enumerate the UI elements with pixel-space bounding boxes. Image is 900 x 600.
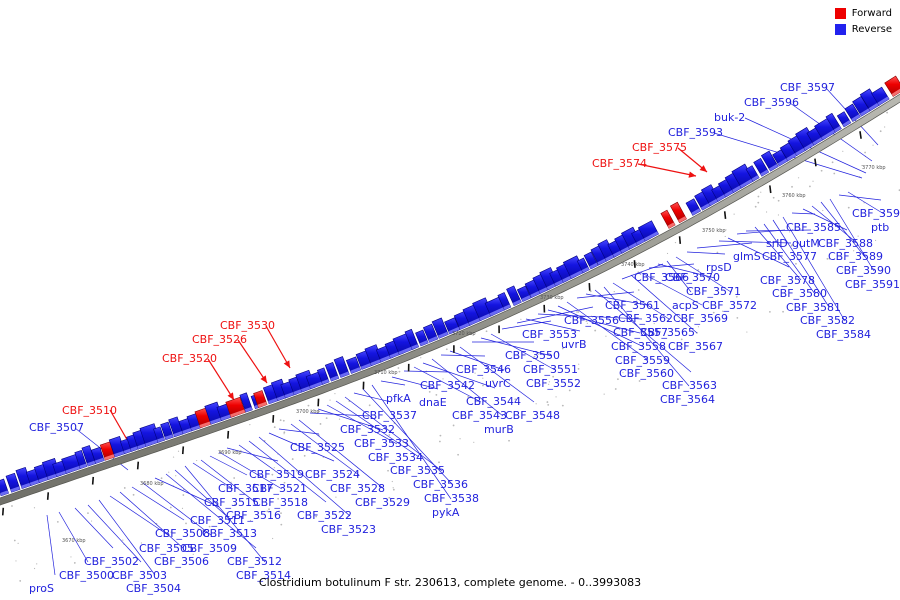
gene-label[interactable]: CBF_3588 bbox=[818, 238, 873, 249]
leader-arrowhead bbox=[688, 171, 696, 177]
speckle bbox=[175, 475, 176, 476]
gene-label[interactable]: uvrB bbox=[561, 339, 587, 350]
gene-label[interactable]: CBF_3560 bbox=[619, 368, 674, 379]
speckle bbox=[884, 126, 885, 127]
speckle bbox=[736, 317, 738, 319]
speckle bbox=[766, 211, 767, 212]
gene-label[interactable]: CBF_3558 bbox=[611, 341, 666, 352]
gene-label[interactable]: CBF_3574 bbox=[592, 158, 647, 169]
gene-features bbox=[0, 76, 900, 500]
gene-label[interactable]: CBF_3575 bbox=[632, 142, 687, 153]
legend-item-forward: Forward bbox=[835, 6, 892, 20]
gene-label[interactable]: CBF_3564 bbox=[660, 394, 715, 405]
speckle bbox=[486, 330, 488, 332]
speckle bbox=[639, 380, 641, 382]
speckle bbox=[233, 477, 235, 479]
gene-label[interactable]: CBF_3507 bbox=[29, 422, 84, 433]
gene-label[interactable]: CBF_3526 bbox=[192, 334, 247, 345]
gene-label[interactable]: CBF_3572 bbox=[702, 300, 757, 311]
speckle bbox=[36, 563, 37, 564]
gene-label[interactable]: CBF_3537 bbox=[362, 410, 417, 421]
speckle bbox=[18, 543, 19, 544]
genome-map-canvas: 3670 kbp3680 kbp3690 kbp3700 kbp3710 kbp… bbox=[0, 0, 900, 600]
axis-tick-label: 3690 kbp bbox=[218, 450, 242, 456]
speckle bbox=[292, 458, 294, 460]
speckle bbox=[392, 481, 393, 482]
gene-label[interactable]: srlD bbox=[766, 238, 788, 249]
gene-label[interactable]: CBF_3582 bbox=[800, 315, 855, 326]
axis-tick-label: 3710 kbp bbox=[374, 370, 398, 376]
speckle bbox=[812, 181, 813, 182]
speckle bbox=[334, 393, 335, 394]
speckle bbox=[755, 206, 757, 208]
speckle bbox=[280, 524, 282, 526]
gene-label[interactable]: CBF_3559 bbox=[615, 355, 670, 366]
tick-hashmark bbox=[680, 236, 681, 244]
gene-label[interactable]: CBF_3590 bbox=[836, 265, 891, 276]
speckle bbox=[182, 508, 183, 509]
gene-label[interactable]: CBF_3521 bbox=[252, 483, 307, 494]
gene-label[interactable]: CBF_3563 bbox=[662, 380, 717, 391]
gene-label[interactable]: CBF_3515 bbox=[204, 497, 259, 508]
speckle bbox=[473, 442, 474, 443]
gene-label[interactable]: CBF_3522 bbox=[297, 510, 352, 521]
speckle bbox=[760, 192, 761, 193]
tick-hashmark bbox=[48, 492, 49, 500]
leader-line bbox=[88, 505, 141, 562]
speckle bbox=[698, 326, 699, 327]
speckle bbox=[280, 419, 282, 421]
gene-label[interactable]: CBF_3546 bbox=[456, 364, 511, 375]
speckle bbox=[848, 207, 850, 209]
speckle bbox=[326, 417, 328, 419]
speckle bbox=[605, 336, 606, 337]
gene-label[interactable]: CBF_3533 bbox=[354, 438, 409, 449]
speckle bbox=[438, 461, 440, 463]
speckle bbox=[196, 460, 197, 461]
gene-label[interactable]: CBF_3561 bbox=[605, 300, 660, 311]
gene-label[interactable]: CBF_3518 bbox=[253, 497, 308, 508]
leader-line bbox=[687, 252, 725, 254]
speckle bbox=[70, 556, 71, 557]
speckle bbox=[886, 112, 888, 114]
tick-hashmark bbox=[183, 446, 184, 454]
axis-tick-label: 3680 kbp bbox=[140, 481, 164, 487]
axis-tick-label: 3720 kbp bbox=[452, 331, 476, 337]
speckle bbox=[821, 170, 823, 172]
axis-tick-label: 3670 kbp bbox=[62, 538, 86, 544]
speckle bbox=[833, 173, 835, 175]
speckle bbox=[872, 145, 873, 146]
gene-label[interactable]: CBF_3551 bbox=[523, 364, 578, 375]
gene-label[interactable]: CBF_3532 bbox=[340, 424, 395, 435]
speckle bbox=[185, 522, 187, 524]
gene-label[interactable]: CBF_3529 bbox=[355, 497, 410, 508]
gene-label[interactable]: CBF_3581 bbox=[786, 302, 841, 313]
speckle bbox=[725, 236, 726, 237]
gene-label[interactable]: CBF_3519 bbox=[249, 469, 304, 480]
leader-line bbox=[266, 326, 290, 368]
speckle bbox=[283, 420, 285, 422]
gene-label[interactable]: CBF_3525 bbox=[290, 442, 345, 453]
gene-label[interactable]: CBF_3509 bbox=[182, 543, 237, 554]
gene-label[interactable]: CBF_3516 bbox=[226, 510, 281, 521]
gene-label[interactable]: CBF_3567 bbox=[668, 341, 723, 352]
gene-label[interactable]: CBF_3542 bbox=[420, 380, 475, 391]
speckle bbox=[161, 477, 163, 479]
gene-label[interactable]: pykA bbox=[432, 507, 459, 518]
speckle bbox=[576, 311, 577, 312]
speckle bbox=[249, 424, 250, 425]
gene-box-reverse[interactable] bbox=[0, 479, 9, 496]
leader-line bbox=[404, 371, 449, 372]
gene-label[interactable]: pfkA bbox=[386, 393, 411, 404]
speckle bbox=[87, 512, 89, 514]
gene-label[interactable]: CBF_3596 bbox=[744, 97, 799, 108]
tick-hashmark bbox=[815, 159, 816, 167]
gene-label[interactable]: CBF_3544 bbox=[466, 396, 521, 407]
gene-label[interactable]: CBF_3536 bbox=[413, 479, 468, 490]
speckle bbox=[272, 538, 273, 539]
speckle bbox=[182, 494, 184, 496]
gene-label[interactable]: CBF_3569 bbox=[673, 313, 728, 324]
gene-label[interactable]: glmS bbox=[733, 251, 761, 262]
speckle bbox=[457, 454, 459, 456]
speckle bbox=[757, 202, 759, 204]
gene-label[interactable]: CBF_3534 bbox=[368, 452, 423, 463]
speckle bbox=[482, 385, 484, 387]
speckle bbox=[283, 433, 284, 434]
gene-label[interactable]: CBF_3593 bbox=[668, 127, 723, 138]
speckle bbox=[320, 423, 322, 425]
speckle bbox=[170, 507, 172, 509]
leader-line bbox=[238, 340, 267, 383]
speckle bbox=[604, 393, 605, 394]
gene-label[interactable]: uvrC bbox=[485, 378, 511, 389]
speckle bbox=[562, 405, 564, 407]
gene-label[interactable]: CBF_3543 bbox=[452, 410, 507, 421]
gene-label[interactable]: CBF_3592 bbox=[852, 208, 900, 219]
speckle bbox=[173, 456, 174, 457]
speckle bbox=[667, 253, 668, 254]
speckle bbox=[536, 403, 537, 404]
speckle bbox=[369, 404, 371, 406]
axis-tick-label: 3750 kbp bbox=[702, 228, 726, 234]
speckle bbox=[809, 186, 811, 188]
speckle bbox=[832, 161, 834, 163]
gene-label[interactable]: CBF_3530 bbox=[220, 320, 275, 331]
genome-caption: Clostridium botulinum F str. 230613, com… bbox=[0, 576, 900, 589]
speckle bbox=[459, 438, 460, 439]
speckle bbox=[880, 130, 882, 132]
speckle bbox=[778, 214, 779, 215]
leader-line bbox=[132, 487, 184, 520]
gene-label[interactable]: CBF_3528 bbox=[330, 483, 385, 494]
speckle bbox=[842, 151, 843, 152]
speckle bbox=[446, 348, 448, 350]
speckle bbox=[453, 425, 455, 427]
speckle bbox=[308, 405, 310, 407]
speckle bbox=[14, 540, 16, 542]
axis-tick-label: 3740 kbp bbox=[621, 262, 645, 268]
speckle bbox=[822, 210, 823, 211]
gene-label[interactable]: CBF_3584 bbox=[816, 329, 871, 340]
leader-arrowhead bbox=[260, 375, 267, 383]
reverse-color-swatch bbox=[835, 24, 846, 35]
speckle bbox=[577, 311, 579, 313]
speckle bbox=[778, 200, 780, 202]
speckle bbox=[387, 470, 389, 472]
speckle bbox=[508, 440, 510, 442]
legend-item-reverse: Reverse bbox=[835, 22, 892, 36]
speckle bbox=[122, 540, 123, 541]
tick-hashmark bbox=[138, 462, 139, 470]
axis-tick-label: 3730 kbp bbox=[540, 295, 564, 301]
speckle bbox=[864, 152, 866, 154]
gene-label[interactable]: buk-2 bbox=[714, 112, 745, 123]
speckle bbox=[795, 263, 797, 265]
gene-label[interactable]: CBF_3556 bbox=[564, 315, 619, 326]
legend-label-reverse: Reverse bbox=[852, 24, 892, 35]
gene-label[interactable]: CBF_3585 bbox=[786, 222, 841, 233]
speckle bbox=[283, 431, 285, 433]
speckle bbox=[769, 311, 771, 313]
speckle bbox=[74, 562, 76, 564]
speckle bbox=[734, 213, 735, 214]
axis-tick-label: 3760 kbp bbox=[782, 193, 806, 199]
speckle bbox=[178, 451, 179, 452]
tick-hashmark bbox=[770, 185, 771, 193]
speckle bbox=[717, 252, 719, 254]
speckle bbox=[439, 441, 441, 443]
speckle bbox=[124, 487, 126, 489]
gene-label[interactable]: CBF_3502 bbox=[84, 556, 139, 567]
gene-box-forward[interactable] bbox=[661, 210, 675, 228]
tick-hashmark bbox=[228, 431, 229, 439]
speckle bbox=[133, 494, 135, 496]
speckle bbox=[594, 330, 596, 332]
speckle bbox=[746, 331, 747, 332]
tick-hashmark bbox=[725, 211, 726, 219]
tick-hashmark bbox=[3, 508, 4, 516]
speckle bbox=[420, 357, 421, 358]
speckle bbox=[615, 388, 617, 390]
speckle bbox=[168, 472, 169, 473]
speckle bbox=[329, 399, 330, 400]
gene-label[interactable]: CBF_3571 bbox=[686, 286, 741, 297]
gene-label[interactable]: CBF_3512 bbox=[227, 556, 282, 567]
speckle bbox=[399, 371, 401, 373]
speckle bbox=[547, 404, 549, 406]
speckle bbox=[398, 367, 400, 369]
speckle bbox=[875, 240, 876, 241]
speckle bbox=[34, 568, 35, 569]
leader-line bbox=[208, 359, 234, 400]
gene-label[interactable]: CBF_3597 bbox=[780, 82, 835, 93]
speckle bbox=[520, 319, 521, 320]
speckle bbox=[11, 505, 13, 507]
gene-box-forward[interactable] bbox=[670, 202, 686, 223]
leader-line bbox=[47, 515, 55, 575]
gene-label[interactable]: CBF_3577 bbox=[762, 251, 817, 262]
speckle bbox=[614, 291, 615, 292]
gene-box-forward[interactable] bbox=[885, 76, 900, 96]
tick-hashmark bbox=[93, 477, 94, 485]
speckle bbox=[590, 290, 592, 292]
legend-label-forward: Forward bbox=[852, 8, 892, 19]
gene-label[interactable]: CBF_3523 bbox=[321, 524, 376, 535]
speckle bbox=[274, 426, 276, 428]
speckle bbox=[675, 242, 676, 243]
gene-label[interactable]: CBF_3589 bbox=[828, 251, 883, 262]
speckle bbox=[555, 396, 556, 397]
axis-tick-label: 3700 kbp bbox=[296, 409, 320, 415]
speckle bbox=[34, 507, 35, 508]
speckle bbox=[335, 497, 336, 498]
speckle bbox=[791, 186, 793, 188]
forward-color-swatch bbox=[835, 8, 846, 19]
speckle bbox=[638, 289, 640, 291]
strand-legend: Forward Reverse bbox=[835, 6, 892, 38]
gene-label[interactable]: CBF_3506 bbox=[154, 556, 209, 567]
gene-label[interactable]: ptb bbox=[871, 222, 889, 233]
speckle bbox=[304, 455, 306, 457]
speckle bbox=[578, 364, 579, 365]
speckle bbox=[440, 435, 442, 437]
gene-label[interactable]: murB bbox=[484, 424, 514, 435]
leader-arrowhead bbox=[228, 392, 234, 400]
gene-label[interactable]: CBF_3535 bbox=[390, 465, 445, 476]
gene-label[interactable]: gutM bbox=[792, 238, 820, 249]
speckle bbox=[482, 378, 483, 379]
tick-hashmark bbox=[860, 131, 861, 139]
gene-label[interactable]: CBF_3562 bbox=[618, 313, 673, 324]
gene-label[interactable]: CBF_3578 bbox=[760, 275, 815, 286]
gene-label[interactable]: CBF_3550 bbox=[505, 350, 560, 361]
speckle bbox=[91, 520, 92, 521]
axis-tick-label: 3770 kbp bbox=[862, 165, 886, 171]
speckle bbox=[758, 196, 760, 198]
gene-label[interactable]: dnaE bbox=[419, 397, 447, 408]
gene-label[interactable]: CBF_3565 bbox=[640, 327, 695, 338]
speckle bbox=[546, 401, 548, 403]
gene-label[interactable]: CBF_3513 bbox=[202, 528, 257, 539]
gene-label[interactable]: acpS bbox=[672, 300, 699, 311]
gene-label[interactable]: CBF_3591 bbox=[845, 279, 900, 290]
gene-label[interactable]: rpsD bbox=[706, 262, 732, 273]
gene-label[interactable]: CBF_3548 bbox=[505, 410, 560, 421]
gene-label[interactable]: CBF_3520 bbox=[162, 353, 217, 364]
speckle bbox=[393, 489, 395, 491]
gene-label[interactable]: CBF_3538 bbox=[424, 493, 479, 504]
speckle bbox=[773, 197, 775, 199]
speckle bbox=[798, 177, 799, 178]
gene-label[interactable]: CBF_3524 bbox=[305, 469, 360, 480]
speckle bbox=[782, 311, 784, 313]
speckle bbox=[15, 560, 16, 561]
gene-label[interactable]: CBF_3510 bbox=[62, 405, 117, 416]
speckle bbox=[339, 419, 340, 420]
gene-label[interactable]: CBF_3580 bbox=[772, 288, 827, 299]
speckle bbox=[393, 487, 394, 488]
gene-label[interactable]: CBF_3552 bbox=[526, 378, 581, 389]
leader-line bbox=[577, 292, 634, 298]
leader-line bbox=[381, 381, 405, 385]
speckle bbox=[57, 521, 59, 523]
